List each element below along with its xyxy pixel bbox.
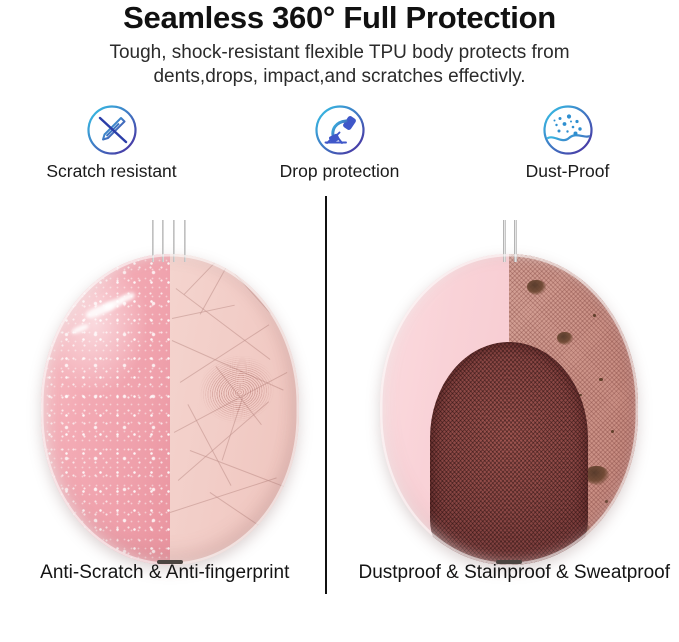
panel-divider bbox=[325, 196, 327, 594]
earcup bbox=[41, 254, 299, 565]
header: Seamless 360° Full Protection Tough, sho… bbox=[0, 0, 679, 90]
scratch-resistant-icon bbox=[84, 102, 140, 158]
headband-stems bbox=[140, 220, 200, 262]
subtitle-line-2: dents,drops, impact,and scratches effect… bbox=[70, 65, 610, 90]
feature-list: Scratch resistant bbox=[0, 102, 679, 182]
subtitle-line-1: Tough, shock-resistant flexible TPU body… bbox=[70, 41, 610, 66]
anti-scratch-panel bbox=[0, 192, 340, 602]
product-image-anti-scratch bbox=[41, 220, 299, 565]
protected-half bbox=[41, 254, 170, 565]
earcup bbox=[380, 254, 638, 565]
feature-scratch-resistant: Scratch resistant bbox=[22, 102, 202, 182]
feature-drop-protection: Drop protection bbox=[250, 102, 430, 182]
noise-control-button bbox=[414, 260, 444, 268]
dust-proof-icon bbox=[540, 102, 596, 158]
product-image-dustproof bbox=[380, 220, 638, 565]
digital-crown bbox=[247, 256, 273, 269]
dustproof-panel bbox=[340, 192, 679, 602]
headband-stems bbox=[479, 220, 539, 262]
feature-label-scratch: Scratch resistant bbox=[22, 161, 202, 182]
comparison-panels bbox=[0, 192, 679, 602]
feature-dust-proof: Dust-Proof bbox=[478, 102, 658, 182]
digital-crown bbox=[586, 256, 612, 269]
caption-dustproof: Dustproof & Stainproof & Sweatproof bbox=[342, 562, 679, 584]
caption-anti-scratch: Anti-Scratch & Anti-fingerprint bbox=[0, 562, 342, 584]
page-subtitle: Tough, shock-resistant flexible TPU body… bbox=[70, 41, 610, 90]
drop-protection-icon bbox=[312, 102, 368, 158]
page-title: Seamless 360° Full Protection bbox=[0, 2, 679, 35]
feature-label-drop: Drop protection bbox=[250, 161, 430, 182]
noise-control-button bbox=[75, 260, 105, 268]
glitter-texture bbox=[41, 254, 170, 565]
ear-cushion-mesh bbox=[430, 342, 588, 565]
feature-label-dust: Dust-Proof bbox=[478, 161, 658, 182]
unprotected-half bbox=[170, 254, 299, 565]
panel-captions: Anti-Scratch & Anti-fingerprint Dustproo… bbox=[0, 562, 679, 584]
